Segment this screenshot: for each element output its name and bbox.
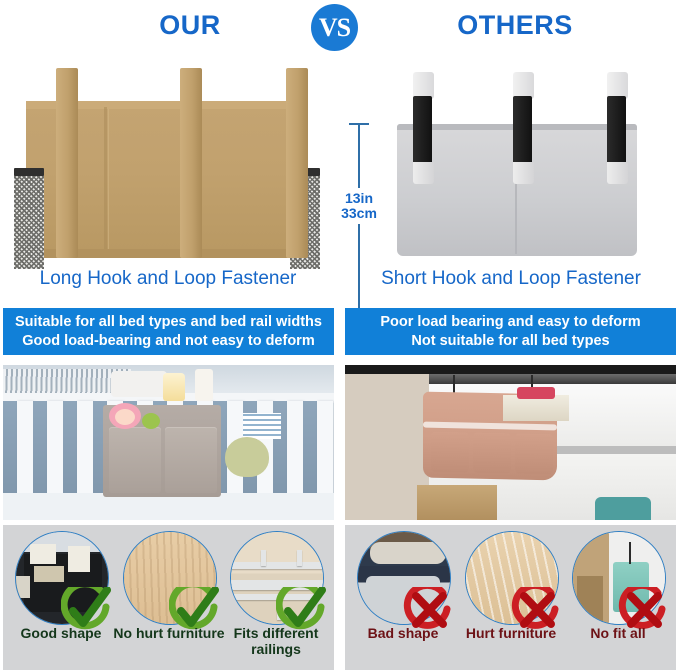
teal-chair: [595, 497, 651, 520]
drawback-label: Bad shape: [347, 625, 459, 641]
velcro-patch: [513, 96, 532, 168]
mesh-pocket-left: [14, 171, 44, 269]
plush-toy-green: [142, 413, 160, 429]
velcro-patch: [607, 96, 626, 168]
our-product-image: [14, 68, 319, 263]
benefit-label: Fits different railings: [220, 625, 332, 657]
ours-banner: Suitable for all bed types and bed rail …: [3, 308, 334, 355]
plush-elephant: [225, 437, 269, 477]
drawback-item-no-fit-all: No fit all: [566, 531, 670, 670]
plush-toy-face: [115, 409, 135, 425]
velcro-patch: [413, 96, 432, 168]
organizer-pocket: [109, 427, 161, 493]
stored-cloth: [517, 387, 555, 399]
short-strap: [413, 72, 434, 182]
other-fastener-caption: Short Hook and Loop Fastener: [348, 268, 674, 290]
bed-frame-rail: [429, 374, 676, 384]
strap-top: [413, 72, 434, 99]
vs-badge-label: VS: [319, 15, 350, 41]
dimension-cap-top: [349, 123, 369, 125]
wipes-pack: [111, 371, 167, 397]
long-strap: [286, 68, 308, 258]
benefit-label: Good shape: [5, 625, 117, 641]
dimension-centimeters: 33cm: [326, 206, 392, 221]
crib-base: [3, 493, 334, 520]
benefit-item-fits-railings: Fits different railings: [224, 531, 328, 670]
organizer-trim: [423, 422, 557, 431]
strap-top: [607, 72, 628, 99]
benefit-item-no-hurt-furniture: No hurt furniture: [117, 531, 221, 670]
others-drawback-icons: Bad shape Hurt furniture: [345, 525, 676, 670]
room-ceiling-shadow: [345, 365, 676, 374]
strap-tail: [513, 162, 534, 184]
mesh-pocket-trim: [14, 168, 44, 176]
folded-towel: [243, 413, 281, 439]
lotion-pump: [195, 369, 213, 401]
organizer-pocket: [431, 432, 469, 473]
organizer-pocket: [165, 427, 217, 493]
benefit-label: No hurt furniture: [113, 625, 225, 641]
crib-scene: [3, 365, 334, 520]
drawback-label: Hurt furniture: [455, 625, 567, 641]
room-scene: [345, 365, 676, 520]
organizer-pocket: [515, 434, 553, 475]
organizer-pocket: [473, 433, 511, 474]
drawback-label: No fit all: [562, 625, 674, 641]
fastener-captions: Long Hook and Loop Fastener Short Hook a…: [0, 268, 679, 302]
vs-badge: VS: [311, 4, 358, 51]
dimension-inches: 13in: [326, 191, 392, 206]
others-lifestyle-photo: [345, 365, 676, 520]
dimension-label: 13in 33cm: [326, 188, 392, 224]
drawback-item-hurt-furniture: Hurt furniture: [459, 531, 563, 670]
others-banner: Poor load bearing and easy to deform Not…: [345, 308, 676, 355]
others-heading: OTHERS: [435, 10, 595, 41]
panel-others: Poor load bearing and easy to deform Not…: [345, 308, 676, 670]
strap-tail: [413, 162, 434, 184]
long-strap: [56, 68, 78, 258]
our-fastener-caption: Long Hook and Loop Fastener: [8, 268, 328, 290]
seam-highlight: [108, 109, 109, 251]
cardboard-box: [417, 485, 497, 520]
others-banner-line1: Poor load bearing and easy to deform: [380, 313, 640, 332]
baby-bottle: [163, 373, 185, 401]
ours-banner-line2: Good load-bearing and not easy to deform: [22, 332, 314, 351]
header: OUR VS OTHERS: [0, 0, 679, 55]
seam: [104, 107, 107, 252]
ours-banner-line1: Suitable for all bed types and bed rail …: [15, 313, 322, 332]
strap-tail: [607, 162, 628, 184]
panel-ours: Suitable for all bed types and bed rail …: [3, 308, 334, 670]
our-heading: OUR: [120, 10, 260, 41]
strap-top: [513, 72, 534, 99]
short-strap: [513, 72, 534, 182]
drawback-item-bad-shape: Bad shape: [351, 531, 455, 670]
ours-benefit-icons: Good shape No hurt furniture: [3, 525, 334, 670]
long-strap: [180, 68, 202, 258]
other-product-image: [385, 72, 650, 262]
ours-lifestyle-photo: [3, 365, 334, 520]
benefit-item-good-shape: Good shape: [9, 531, 113, 670]
others-banner-line2: Not suitable for all bed types: [411, 332, 609, 351]
comparison-infographic: OUR VS OTHERS: [0, 0, 679, 670]
short-strap: [607, 72, 628, 182]
